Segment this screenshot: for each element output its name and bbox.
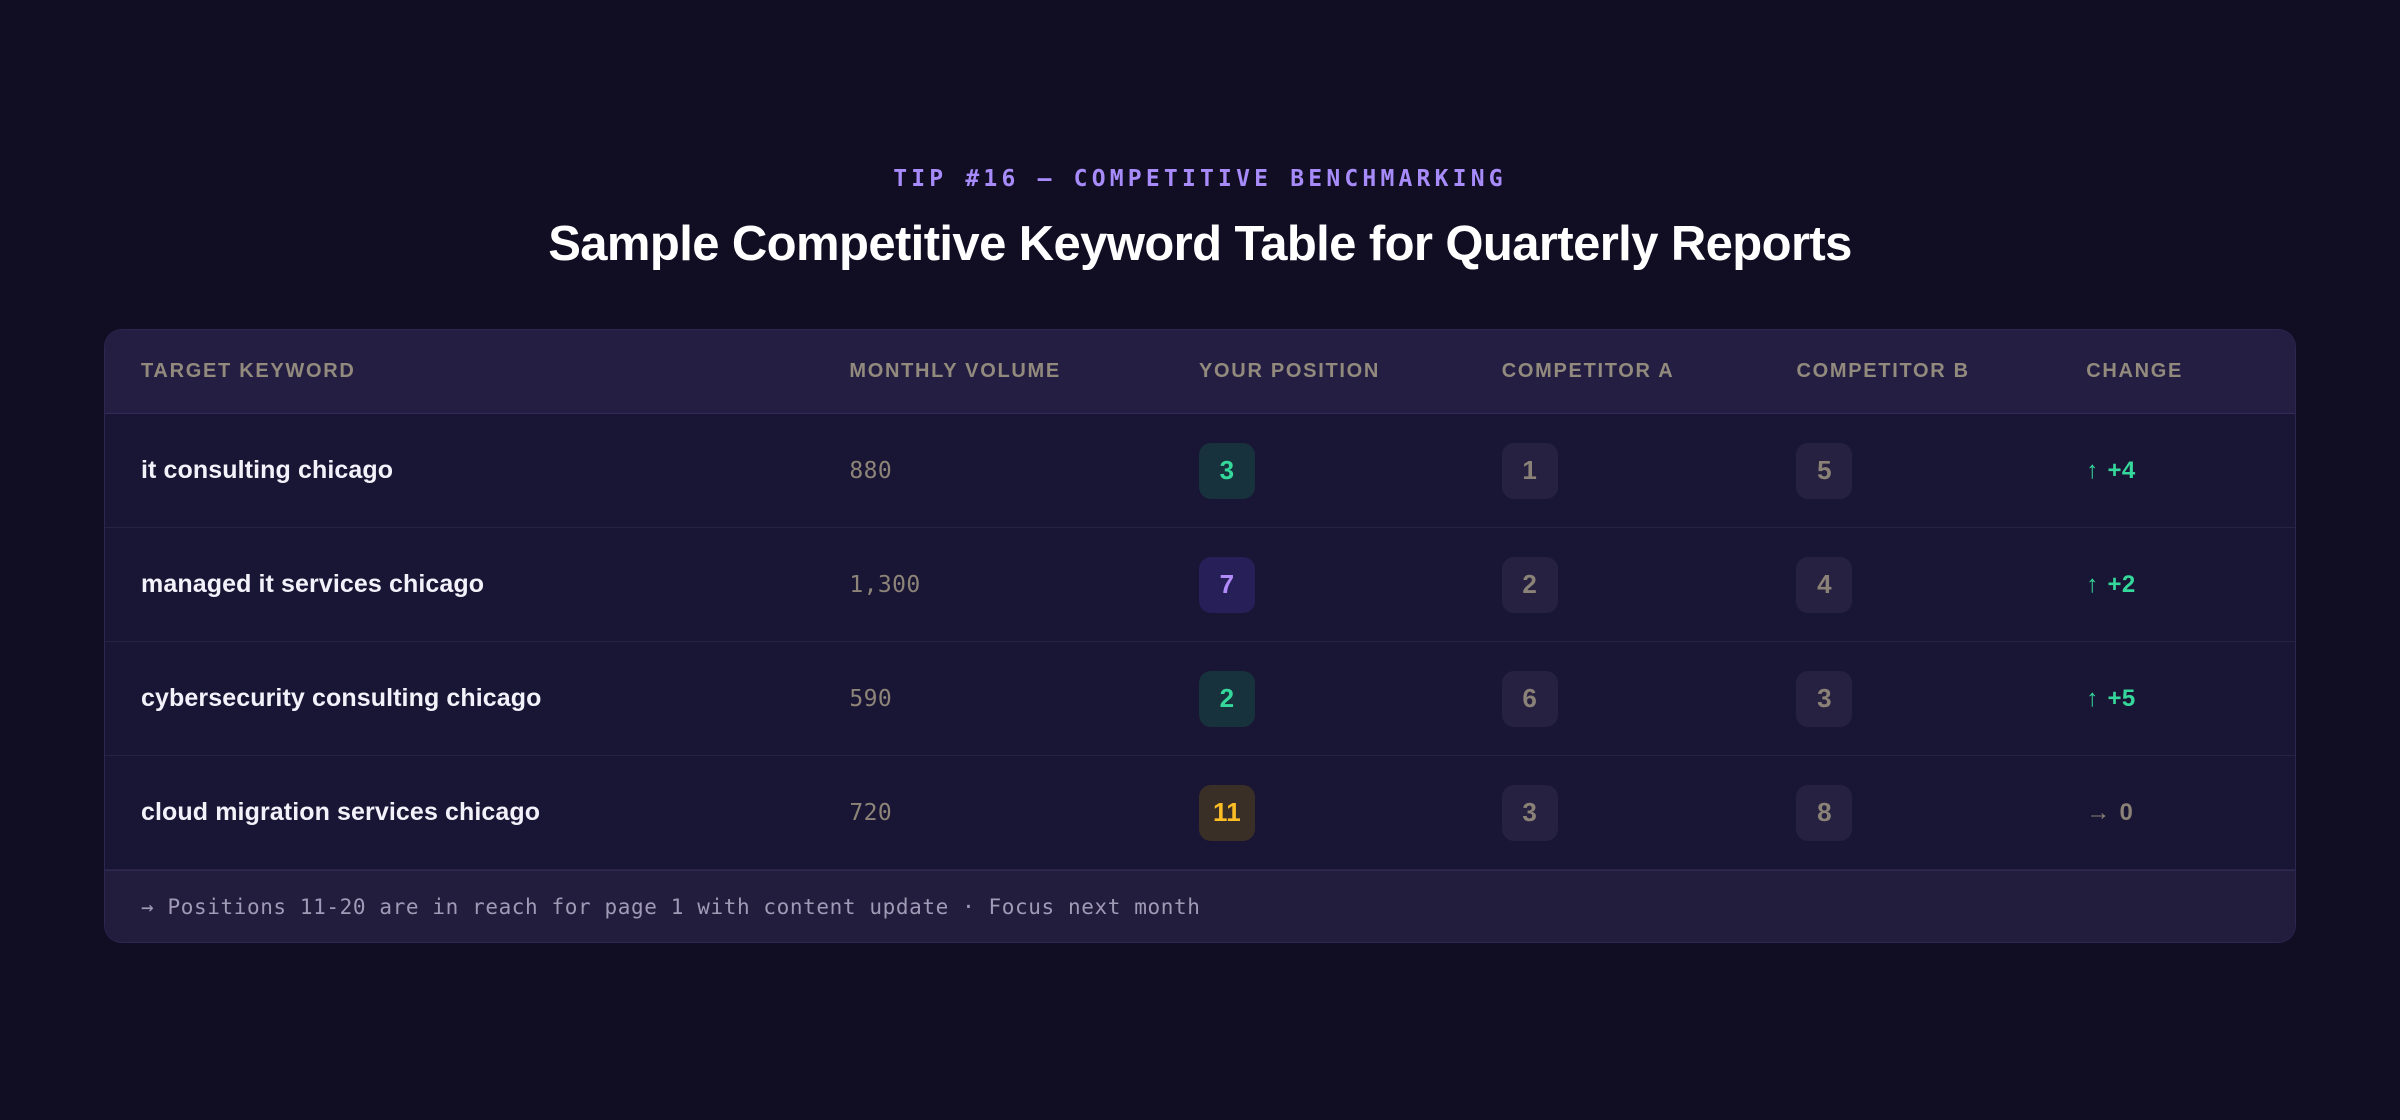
change-value: +4: [2108, 457, 2136, 485]
keyword-text: it consulting chicago: [141, 456, 393, 484]
competitor-b-badge: 8: [1796, 785, 1852, 841]
change-indicator: ↑ +4: [2086, 457, 2135, 485]
column-header-competitor-a: COMPETITOR A: [1502, 360, 1797, 383]
page-title: Sample Competitive Keyword Table for Qua…: [548, 216, 1852, 272]
table-header-row: TARGET KEYWORD MONTHLY VOLUME YOUR POSIT…: [105, 330, 2295, 414]
cell-competitor-a: 6: [1502, 671, 1797, 727]
keyword-text: managed it services chicago: [141, 570, 484, 598]
cell-your-position: 7: [1199, 557, 1502, 613]
volume-text: 880: [849, 458, 892, 484]
cell-competitor-b: 3: [1796, 671, 2086, 727]
competitor-a-badge: 6: [1502, 671, 1558, 727]
column-header-change: CHANGE: [2086, 360, 2295, 383]
table-row[interactable]: cloud migration services chicago 720 11 …: [105, 756, 2295, 870]
change-value: 0: [2120, 799, 2134, 827]
keyword-text: cloud migration services chicago: [141, 798, 540, 826]
arrow-up-icon: ↑: [2086, 687, 2098, 711]
column-header-monthly-volume: MONTHLY VOLUME: [849, 360, 1199, 383]
column-header-competitor-b: COMPETITOR B: [1796, 360, 2086, 383]
volume-text: 590: [849, 686, 892, 712]
cell-change: → 0: [2086, 799, 2295, 827]
change-value: +2: [2108, 571, 2136, 599]
cell-competitor-b: 5: [1796, 443, 2086, 499]
cell-your-position: 11: [1199, 785, 1502, 841]
cell-competitor-a: 2: [1502, 557, 1797, 613]
table-row[interactable]: managed it services chicago 1,300 7 2 4 …: [105, 528, 2295, 642]
cell-keyword: cybersecurity consulting chicago: [105, 684, 849, 713]
column-header-target-keyword: TARGET KEYWORD: [105, 360, 849, 383]
change-indicator: → 0: [2086, 799, 2133, 827]
cell-change: ↑ +2: [2086, 571, 2295, 599]
cell-keyword: cloud migration services chicago: [105, 798, 849, 827]
table-footer: → Positions 11-20 are in reach for page …: [105, 870, 2295, 942]
cell-monthly-volume: 590: [849, 686, 1199, 712]
change-indicator: ↑ +2: [2086, 571, 2135, 599]
keyword-text: cybersecurity consulting chicago: [141, 684, 542, 712]
cell-your-position: 2: [1199, 671, 1502, 727]
volume-text: 720: [849, 800, 892, 826]
footer-note: → Positions 11-20 are in reach for page …: [141, 895, 1200, 919]
volume-text: 1,300: [849, 572, 920, 598]
competitor-b-badge: 5: [1796, 443, 1852, 499]
change-indicator: ↑ +5: [2086, 685, 2135, 713]
cell-your-position: 3: [1199, 443, 1502, 499]
cell-monthly-volume: 880: [849, 458, 1199, 484]
arrow-right-icon: →: [2086, 801, 2110, 825]
competitor-a-badge: 2: [1502, 557, 1558, 613]
eyebrow-label: TIP #16 — COMPETITIVE BENCHMARKING: [893, 168, 1507, 191]
cell-competitor-a: 1: [1502, 443, 1797, 499]
column-header-your-position: YOUR POSITION: [1199, 360, 1502, 383]
position-badge: 7: [1199, 557, 1255, 613]
position-badge: 2: [1199, 671, 1255, 727]
competitor-a-badge: 3: [1502, 785, 1558, 841]
cell-monthly-volume: 720: [849, 800, 1199, 826]
cell-competitor-b: 4: [1796, 557, 2086, 613]
cell-keyword: managed it services chicago: [105, 570, 849, 599]
table-row[interactable]: cybersecurity consulting chicago 590 2 6…: [105, 642, 2295, 756]
cell-change: ↑ +5: [2086, 685, 2295, 713]
cell-competitor-a: 3: [1502, 785, 1797, 841]
change-value: +5: [2108, 685, 2136, 713]
arrow-up-icon: ↑: [2086, 573, 2098, 597]
cell-competitor-b: 8: [1796, 785, 2086, 841]
keyword-table-card: TARGET KEYWORD MONTHLY VOLUME YOUR POSIT…: [104, 329, 2296, 943]
arrow-up-icon: ↑: [2086, 459, 2098, 483]
competitor-b-badge: 3: [1796, 671, 1852, 727]
competitor-a-badge: 1: [1502, 443, 1558, 499]
page-root: TIP #16 — COMPETITIVE BENCHMARKING Sampl…: [0, 0, 2400, 1120]
competitor-b-badge: 4: [1796, 557, 1852, 613]
table-row[interactable]: it consulting chicago 880 3 1 5 ↑ +4: [105, 414, 2295, 528]
cell-keyword: it consulting chicago: [105, 456, 849, 485]
position-badge: 3: [1199, 443, 1255, 499]
cell-change: ↑ +4: [2086, 457, 2295, 485]
position-badge: 11: [1199, 785, 1255, 841]
cell-monthly-volume: 1,300: [849, 572, 1199, 598]
